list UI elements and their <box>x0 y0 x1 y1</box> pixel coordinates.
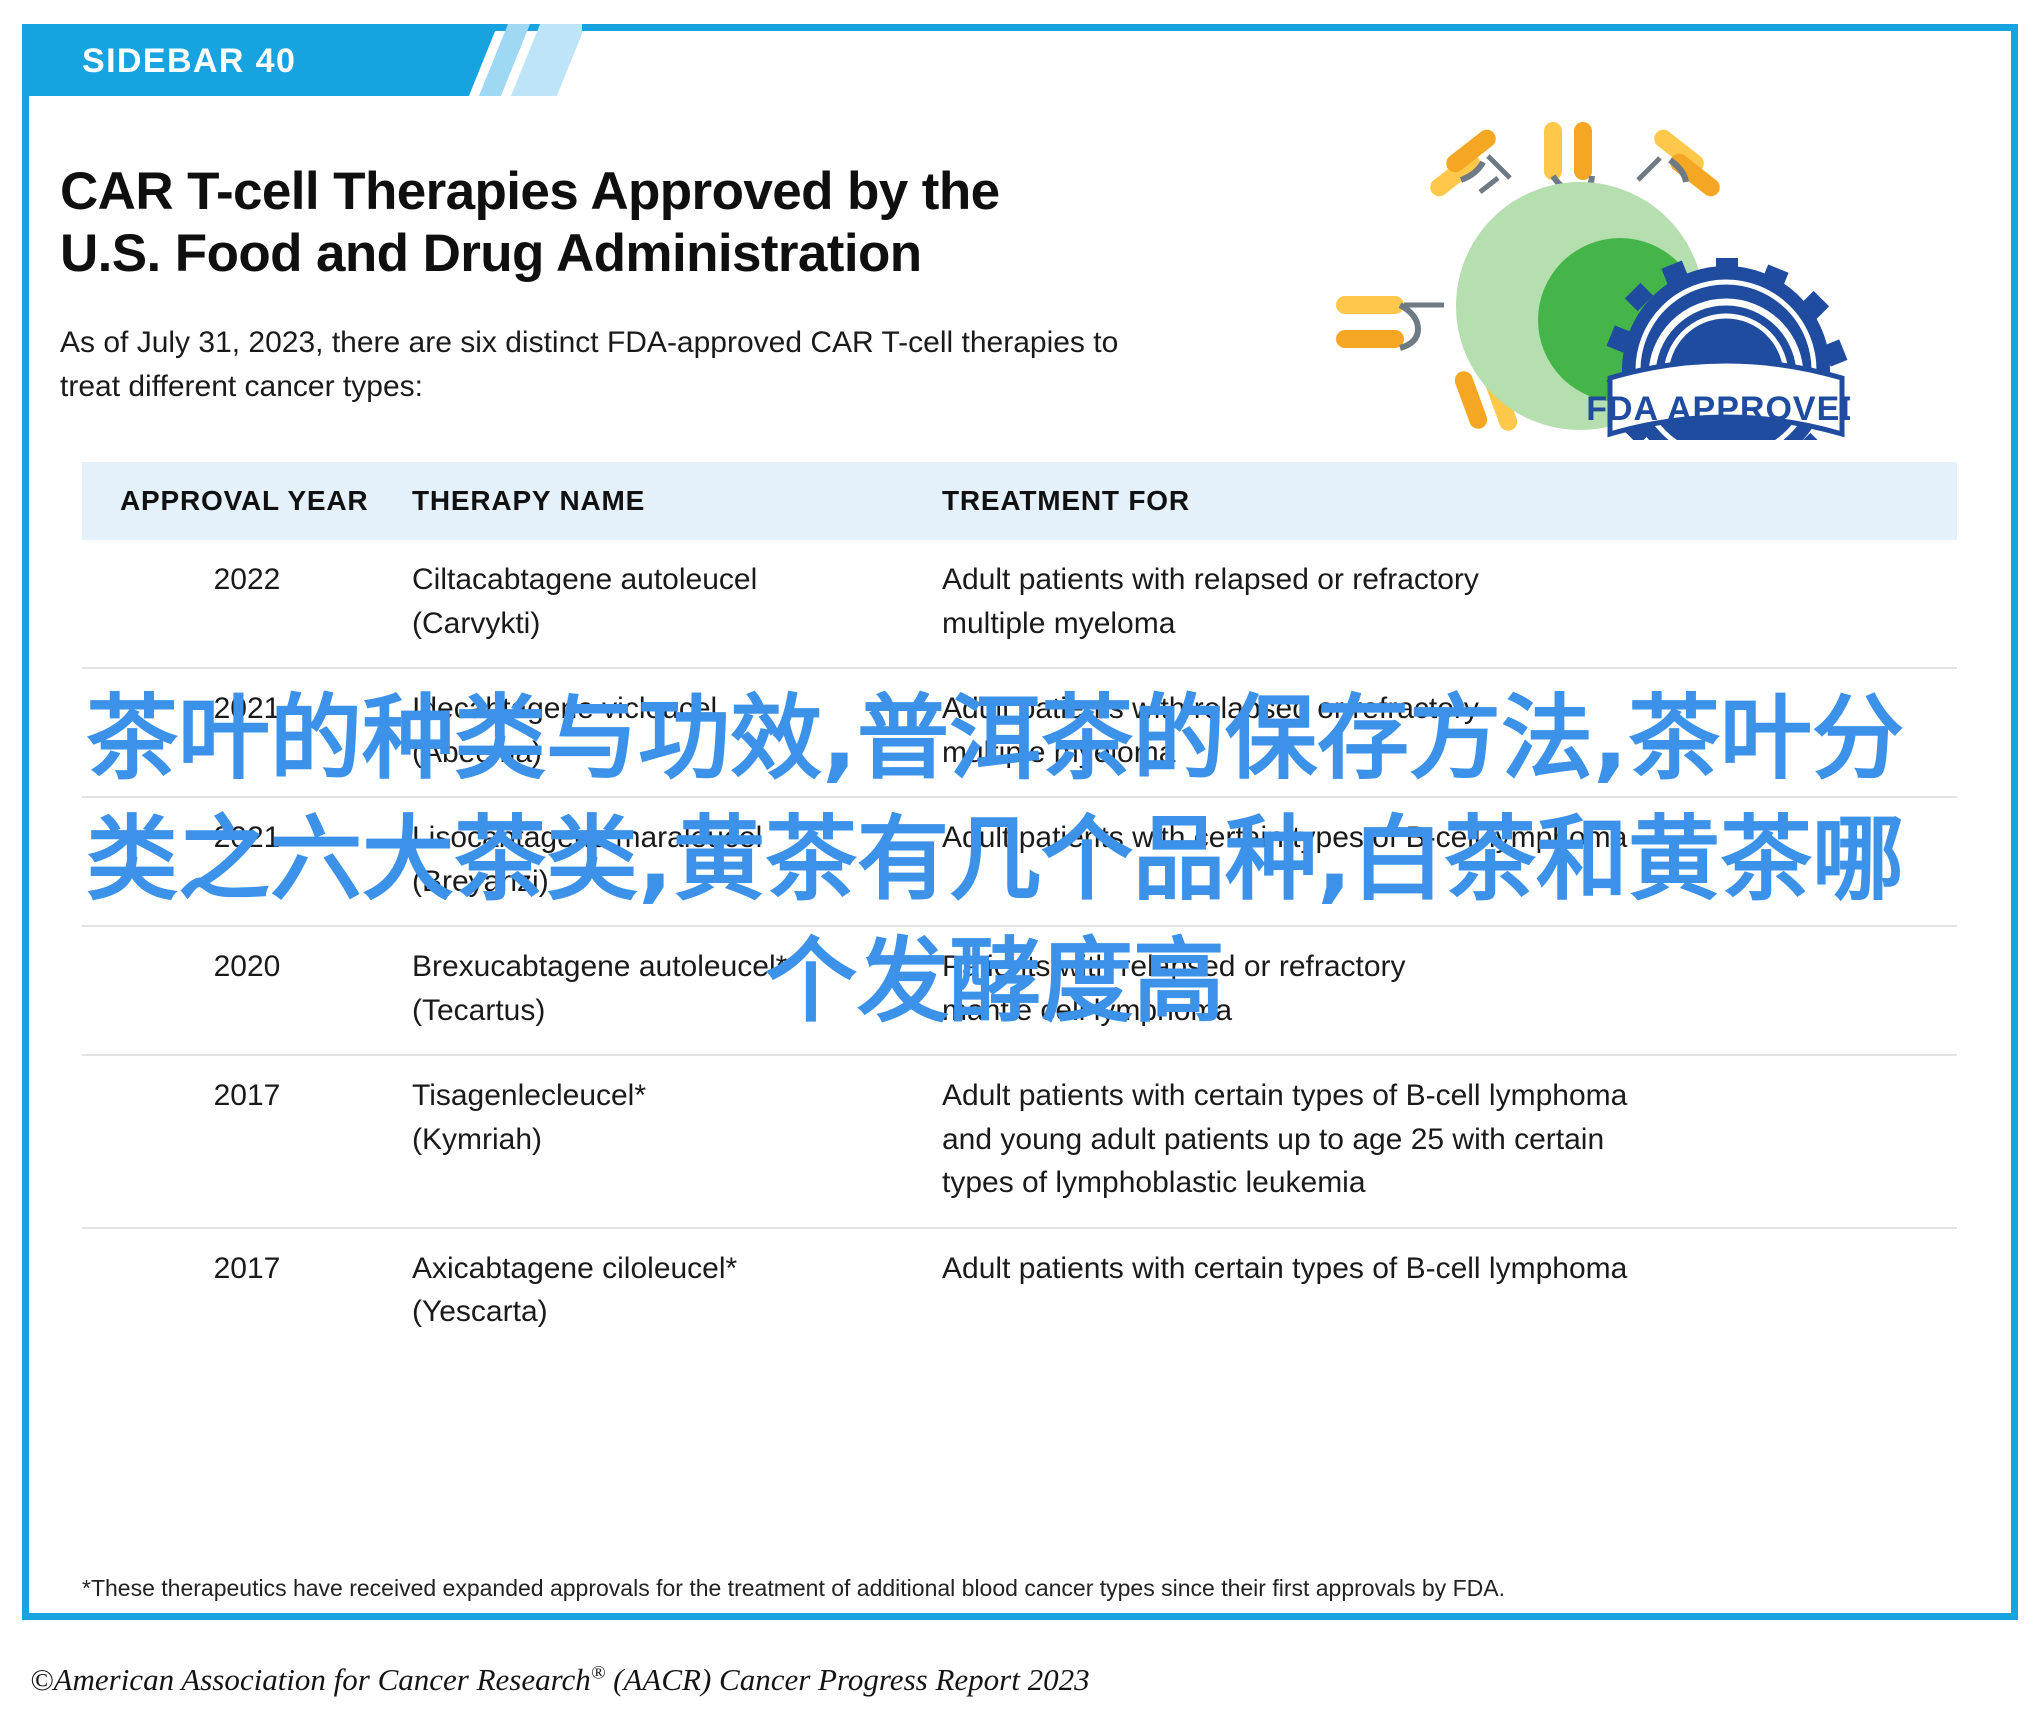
table-row: 2021 Lisocabtagene maraleucel (Breyanzi)… <box>82 798 1957 927</box>
table-row: 2021 Idecabtagene vicleucel (Abecma) Adu… <box>82 669 1957 798</box>
cell-year: 2017 <box>82 1247 412 1291</box>
table-footnote: *These therapeutics have received expand… <box>82 1575 1882 1602</box>
therapies-table: APPROVAL YEAR THERAPY NAME TREATMENT FOR… <box>82 462 1957 1356</box>
cell-treatment: Adult patients with certain types of B-c… <box>942 1074 1957 1205</box>
credit-prefix: ©American Association for Cancer Researc… <box>30 1662 591 1697</box>
cell-treatment-line: multiple myeloma <box>942 731 1957 775</box>
cell-therapy-line: Brexucabtagene autoleucel* <box>412 945 942 989</box>
cell-therapy-line: Axicabtagene ciloleucel* <box>412 1247 942 1291</box>
table-header-row: APPROVAL YEAR THERAPY NAME TREATMENT FOR <box>82 462 1957 540</box>
cell-treatment-line: Adult patients with certain types of B-c… <box>942 816 1957 860</box>
cell-therapy-line: (Yescarta) <box>412 1290 942 1334</box>
car-receptor-icon-top <box>1480 178 1498 192</box>
cell-treatment-line: Patients with relapsed or refractory <box>942 945 1957 989</box>
car-receptor-icon-4 <box>1336 296 1444 348</box>
infographic-page: SIDEBAR 40 CAR T-cell Therapies Approved… <box>0 0 2044 1725</box>
cell-therapy-line: Lisocabtagene maraleucel <box>412 816 942 860</box>
cell-therapy-line: Ciltacabtagene autoleucel <box>412 558 942 602</box>
cell-therapy: Lisocabtagene maraleucel (Breyanzi) <box>412 816 942 903</box>
cell-year: 2021 <box>82 687 412 731</box>
table-row: 2022 Ciltacabtagene autoleucel (Carvykti… <box>82 540 1957 669</box>
column-header-therapy-name: THERAPY NAME <box>412 485 942 517</box>
cell-treatment-line: Adult patients with relapsed or refracto… <box>942 558 1957 602</box>
cell-treatment: Adult patients with certain types of B-c… <box>942 816 1957 860</box>
sidebar-tab: SIDEBAR 40 <box>22 24 582 96</box>
intro-line-2: treat different cancer types: <box>60 365 1320 409</box>
cell-treatment-line: mantle cell lymphoma <box>942 989 1957 1033</box>
car-receptor-icon-3 <box>1638 126 1723 200</box>
column-header-treatment-for: TREATMENT FOR <box>942 485 1957 517</box>
intro-line-1: As of July 31, 2023, there are six disti… <box>60 321 1320 365</box>
cell-therapy: Idecabtagene vicleucel (Abecma) <box>412 687 942 774</box>
cell-year: 2021 <box>82 816 412 860</box>
cell-therapy: Tisagenlecleucel* (Kymriah) <box>412 1074 942 1161</box>
table-row: 2017 Axicabtagene ciloleucel* (Yescarta)… <box>82 1229 1957 1356</box>
page-title: CAR T-cell Therapies Approved by the U.S… <box>60 161 1310 286</box>
cell-treatment: Adult patients with relapsed or refracto… <box>942 558 1957 645</box>
credit-suffix: (AACR) Cancer Progress Report 2023 <box>605 1662 1089 1697</box>
cell-treatment: Adult patients with certain types of B-c… <box>942 1247 1957 1291</box>
cell-year: 2022 <box>82 558 412 602</box>
car-t-cell-svg: FDA APPROVED <box>1330 120 1850 440</box>
cell-treatment: Patients with relapsed or refractory man… <box>942 945 1957 1032</box>
cell-therapy-line: (Breyanzi) <box>412 860 942 904</box>
sidebar-tab-label: SIDEBAR 40 <box>82 42 296 81</box>
cell-treatment: Adult patients with relapsed or refracto… <box>942 687 1957 774</box>
copyright-credit: ©American Association for Cancer Researc… <box>30 1662 1090 1698</box>
fda-badge-text: FDA APPROVED <box>1586 390 1850 428</box>
credit-registered-mark: ® <box>591 1663 606 1684</box>
cell-therapy: Ciltacabtagene autoleucel (Carvykti) <box>412 558 942 645</box>
table-row: 2017 Tisagenlecleucel* (Kymriah) Adult p… <box>82 1056 1957 1229</box>
cell-therapy-line: Tisagenlecleucel* <box>412 1074 942 1118</box>
cell-treatment-line: multiple myeloma <box>942 602 1957 646</box>
cell-therapy-line: Idecabtagene vicleucel <box>412 687 942 731</box>
cell-year: 2020 <box>82 945 412 989</box>
cell-therapy-line: (Tecartus) <box>412 989 942 1033</box>
cell-treatment-line: Adult patients with certain types of B-c… <box>942 1074 1957 1118</box>
cell-therapy-line: (Abecma) <box>412 731 942 775</box>
cell-treatment-line: types of lymphoblastic leukemia <box>942 1161 1957 1205</box>
cell-treatment-line: and young adult patients up to age 25 wi… <box>942 1118 1957 1162</box>
cell-therapy: Axicabtagene ciloleucel* (Yescarta) <box>412 1247 942 1334</box>
column-header-approval-year: APPROVAL YEAR <box>82 485 412 517</box>
intro-paragraph: As of July 31, 2023, there are six disti… <box>60 321 1320 410</box>
car-receptor-icon-1 <box>1427 126 1510 200</box>
cell-therapy-line: (Carvykti) <box>412 602 942 646</box>
page-title-line-1: CAR T-cell Therapies Approved by the <box>60 161 1310 224</box>
page-title-line-2: U.S. Food and Drug Administration <box>60 223 1310 286</box>
cell-treatment-line: Adult patients with relapsed or refracto… <box>942 687 1957 731</box>
cell-therapy: Brexucabtagene autoleucel* (Tecartus) <box>412 945 942 1032</box>
table-row: 2020 Brexucabtagene autoleucel* (Tecartu… <box>82 927 1957 1056</box>
cell-year: 2017 <box>82 1074 412 1118</box>
cell-therapy-line: (Kymriah) <box>412 1118 942 1162</box>
car-t-cell-illustration: FDA APPROVED <box>1330 120 1850 440</box>
cell-treatment-line: Adult patients with certain types of B-c… <box>942 1247 1957 1291</box>
